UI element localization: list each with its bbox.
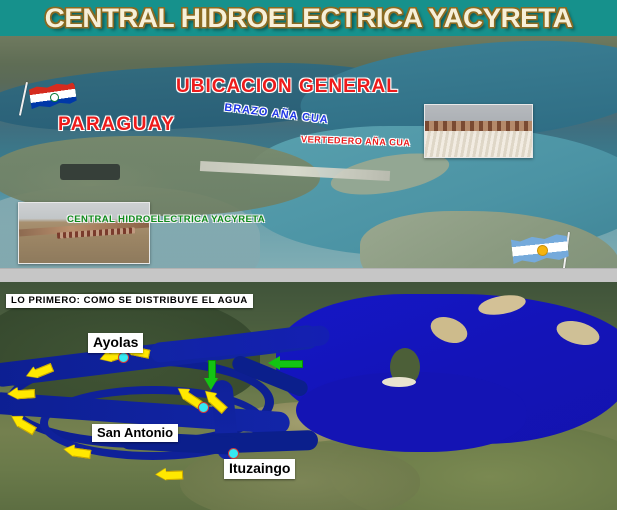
city-label-ayolas: Ayolas [88,333,143,353]
reservoir-island-4 [382,377,416,387]
bottom-satellite-imagery [0,282,617,510]
page-title: CENTRAL HIDROELECTRICA YACYRETA [0,1,617,35]
arrow-shaft [72,447,91,458]
spillway-piers [425,121,532,131]
bottom-map-panel: AÑA CUA SAN JOSE MI PRINCIPAL EMBALSE VB… [0,282,617,510]
arrow-head [268,356,280,370]
arrow-shaft [17,389,36,399]
label-paraguay: PARAGUAY [58,114,176,136]
arrow-head [156,468,166,480]
flow-arrow-yellow [8,386,35,401]
city-label-ituzaingo: Ituzaingo [224,459,295,479]
flow-arrow-green-chy-vbp [204,360,218,390]
powerhouse-photo [18,202,150,264]
flow-arrow-yellow [156,468,182,482]
top-map-heading: UBICACION GENERAL [176,76,399,98]
city-label-san-antonio: San Antonio [92,424,178,442]
arrow-head [8,387,19,400]
label-central-hidroelectrica: CENTRAL HIDROELECTRICA YACYRETA [67,214,265,225]
spillway-photo [424,104,533,158]
flow-arrow-green-vbac [268,356,302,370]
argentina-flag [512,232,576,268]
arrow-head [204,378,218,390]
city-dot-ayolas [118,352,129,363]
powerhouse-footprint [60,164,120,180]
arrow-head [63,443,75,456]
poster: CENTRAL HIDROELECTRICA YACYRETA [0,0,617,510]
title-bar: CENTRAL HIDROELECTRICA YACYRETA [0,0,617,36]
city-dot-ituzaingo [228,448,239,459]
spillway-foam-water [425,131,532,157]
caption-distribucion-agua: LO PRIMERO: COMO SE DISTRIBUYE EL AGUA [6,294,253,308]
arrow-shaft [279,360,303,368]
top-map-panel: UBICACION GENERAL PARAGUAY BRAZO AÑA CUA… [0,36,617,268]
arrow-shaft [165,471,183,481]
city-dot-san-antonio [198,402,209,413]
